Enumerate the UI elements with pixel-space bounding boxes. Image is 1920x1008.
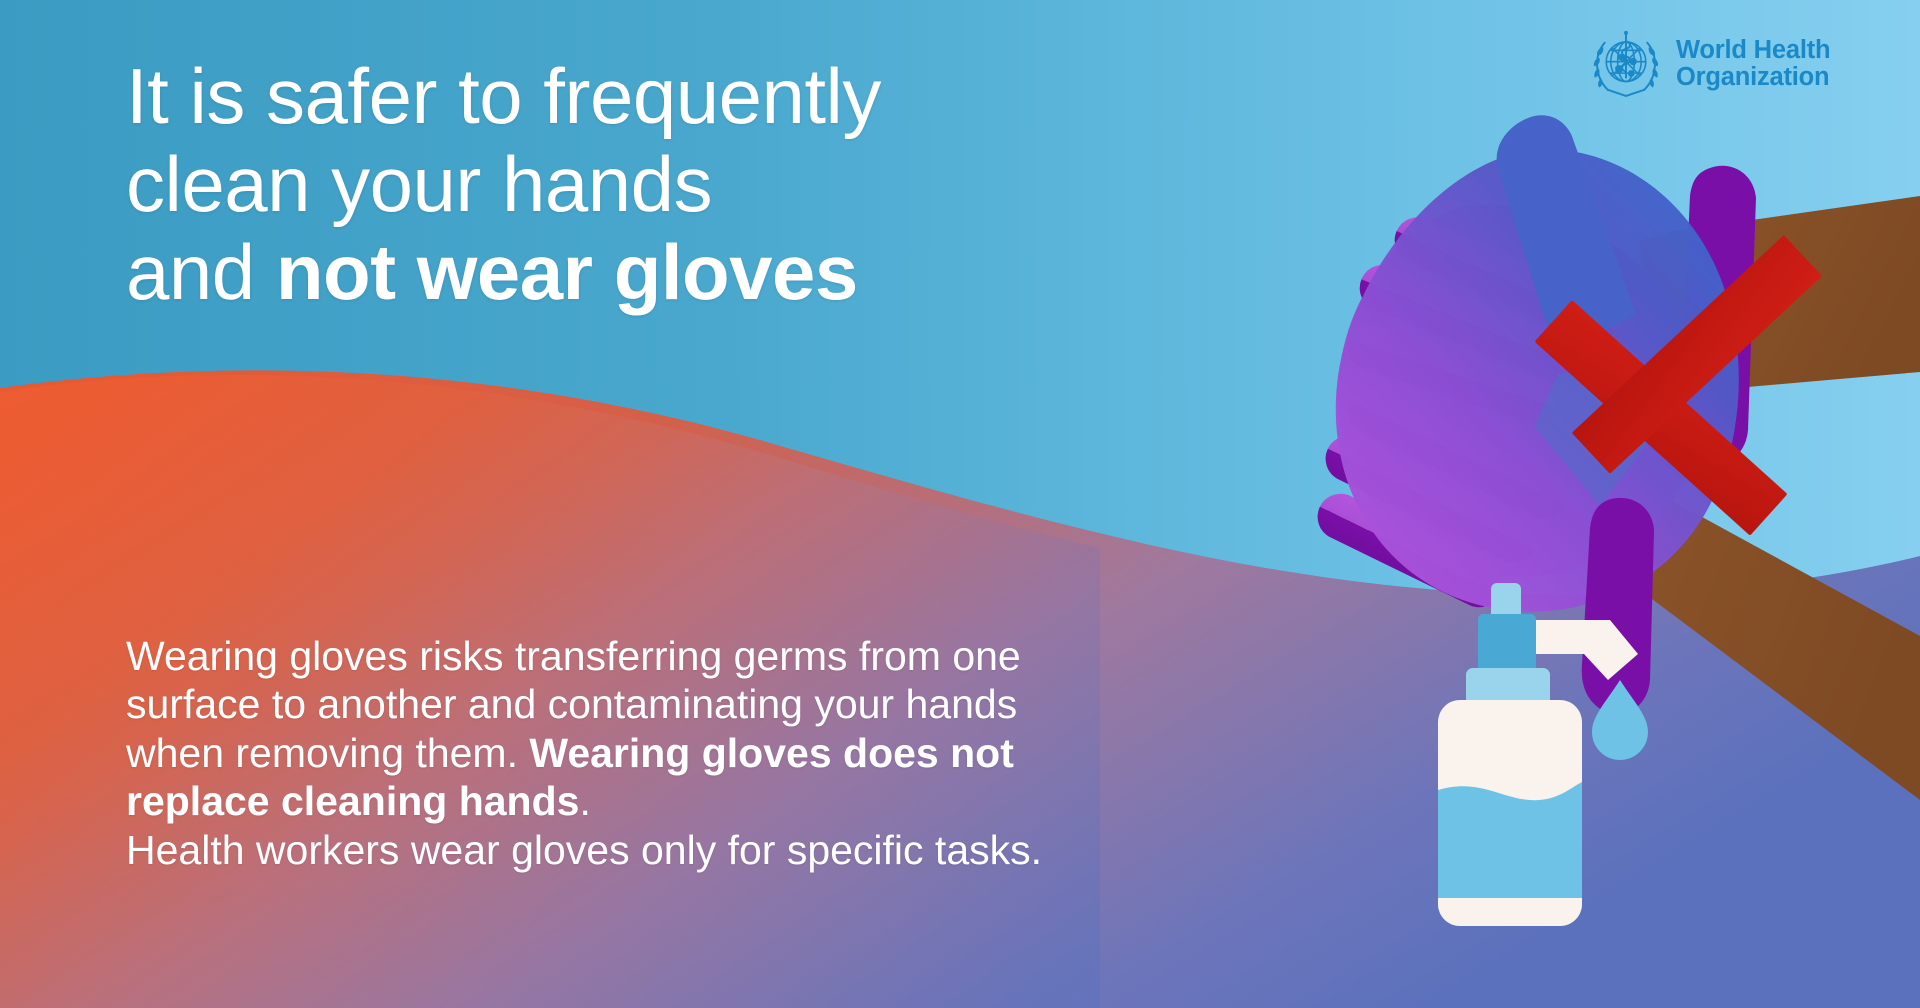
body-line-5: Health workers wear gloves only for spec… xyxy=(126,826,1236,874)
who-wordmark: World Health Organization xyxy=(1676,37,1830,90)
headline-line-1: It is safer to frequently xyxy=(126,52,1126,140)
body-line-3-regular: when removing them. xyxy=(126,730,529,776)
headline-line-3: and not wear gloves xyxy=(126,228,1126,316)
body-line-2: surface to another and contaminating you… xyxy=(126,680,1236,728)
body-line-3: when removing them. Wearing gloves does … xyxy=(126,729,1236,777)
body-line-4-bold: replace cleaning hands xyxy=(126,778,579,824)
body-line-4-regular: . xyxy=(579,778,590,824)
headline-line-2: clean your hands xyxy=(126,140,1126,228)
who-wordmark-line-2: Organization xyxy=(1676,64,1830,91)
headline-line-3-regular: and xyxy=(126,228,276,316)
poster-root: It is safer to frequently clean your han… xyxy=(0,0,1920,1008)
body-line-1: Wearing gloves risks transferring germs … xyxy=(126,632,1236,680)
headline-line-3-bold: not wear gloves xyxy=(276,228,858,316)
headline: It is safer to frequently clean your han… xyxy=(126,52,1126,316)
body-line-3-bold: Wearing gloves does not xyxy=(529,730,1014,776)
who-emblem-icon xyxy=(1588,26,1664,102)
who-logo: World Health Organization xyxy=(1588,26,1830,102)
body-line-4: replace cleaning hands. xyxy=(126,777,1236,825)
body-copy: Wearing gloves risks transferring germs … xyxy=(126,632,1236,874)
who-wordmark-line-1: World Health xyxy=(1676,37,1830,64)
